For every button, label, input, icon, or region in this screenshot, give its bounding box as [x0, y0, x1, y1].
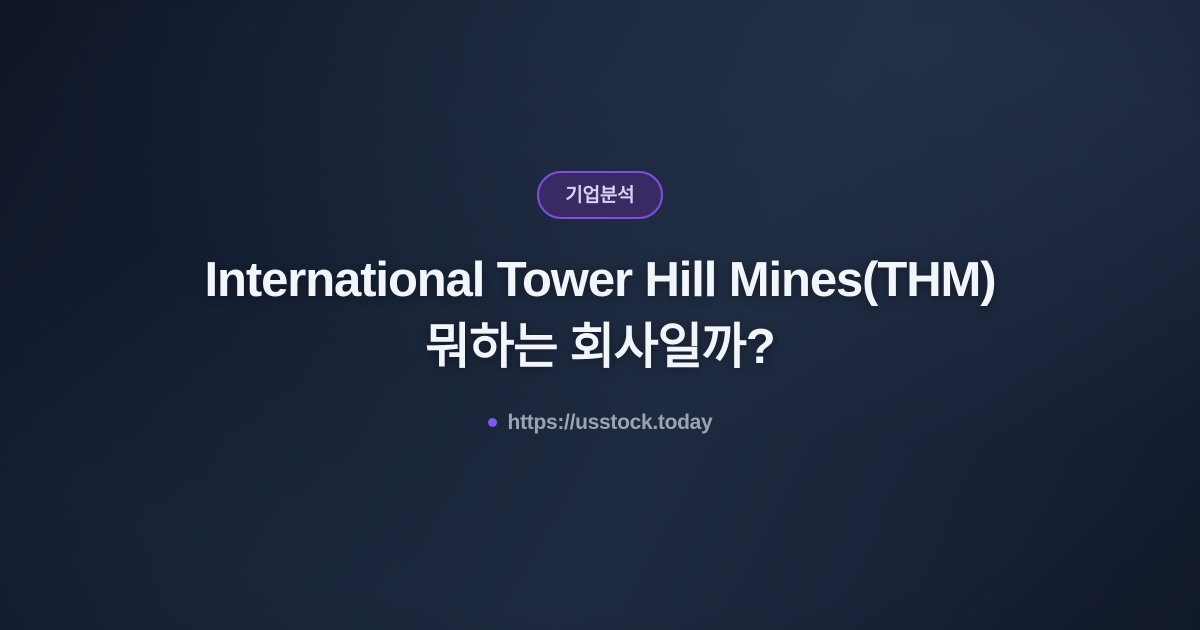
- site-url[interactable]: https://usstock.today: [488, 411, 713, 435]
- category-badge: 기업분석: [537, 171, 662, 219]
- title-line-1: International Tower Hill Mines(THM): [205, 249, 996, 312]
- card-content: 기업분석 International Tower Hill Mines(THM)…: [0, 0, 1200, 630]
- bullet-dot-icon: [488, 418, 497, 427]
- page-title: International Tower Hill Mines(THM) 뭐하는 …: [205, 249, 996, 378]
- title-line-2: 뭐하는 회사일까?: [205, 316, 996, 379]
- site-url-label: https://usstock.today: [508, 411, 713, 435]
- og-share-card: 기업분석 International Tower Hill Mines(THM)…: [0, 0, 1200, 630]
